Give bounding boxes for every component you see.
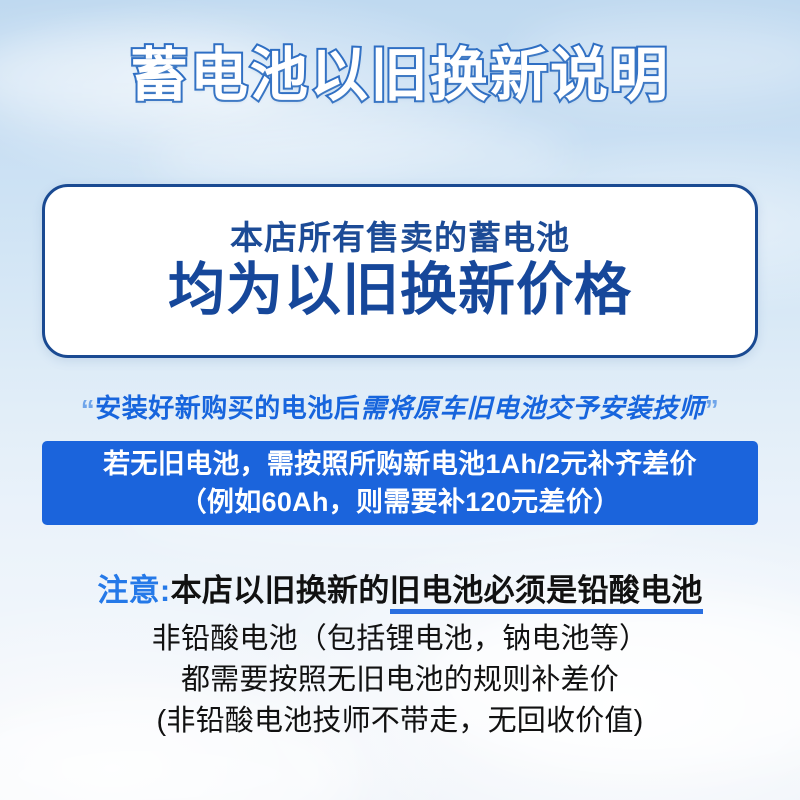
poster-canvas: 蓄电池以旧换新说明 本店所有售卖的蓄电池 均为以旧换新价格 “安装好新购买的电池… — [0, 0, 800, 800]
highlight-card: 本店所有售卖的蓄电池 均为以旧换新价格 — [42, 184, 758, 358]
banner-line-2: （例如60Ah，则需要补120元差价） — [180, 483, 621, 521]
card-subtitle: 本店所有售卖的蓄电池 — [230, 220, 570, 256]
notice-body-line: 都需要按照无旧电池的规则补差价 — [0, 660, 800, 701]
notice-label: 注意: — [97, 573, 170, 608]
card-headline: 均为以旧换新价格 — [168, 260, 632, 322]
price-difference-banner: 若无旧电池，需按照所购新电池1Ah/2元补齐差价 （例如60Ah，则需要补120… — [42, 441, 758, 525]
cloud-decoration — [150, 120, 570, 190]
quote-normal-text: 安装好新购买的电池后 — [95, 393, 360, 423]
banner-line-1: 若无旧电池，需按照所购新电池1Ah/2元补齐差价 — [103, 445, 697, 483]
notice-head-underlined: 旧电池必须是铅酸电池 — [390, 573, 703, 614]
quote-statement: “安装好新购买的电池后需将原车旧电池交予安装技师” — [0, 388, 800, 426]
quote-emphasis-text: 需将原车旧电池交予安装技师 — [360, 393, 705, 423]
quote-open-mark: “ — [81, 394, 96, 425]
notice-headline: 注意:本店以旧换新的旧电池必须是铅酸电池 — [0, 572, 800, 611]
notice-body-line: 非铅酸电池（包括锂电池，钠电池等） — [0, 619, 800, 660]
notice-head-plain: 本店以旧换新的 — [171, 573, 390, 608]
notice-body: 非铅酸电池（包括锂电池，钠电池等） 都需要按照无旧电池的规则补差价 (非铅酸电池… — [0, 619, 800, 743]
notice-body-line: (非铅酸电池技师不带走，无回收价值) — [0, 701, 800, 742]
page-title: 蓄电池以旧换新说明 — [130, 46, 670, 107]
poster-title-area: 蓄电池以旧换新说明 — [0, 46, 800, 107]
quote-close-mark: ” — [705, 394, 720, 425]
notice-block: 注意:本店以旧换新的旧电池必须是铅酸电池 非铅酸电池（包括锂电池，钠电池等） 都… — [0, 572, 800, 742]
